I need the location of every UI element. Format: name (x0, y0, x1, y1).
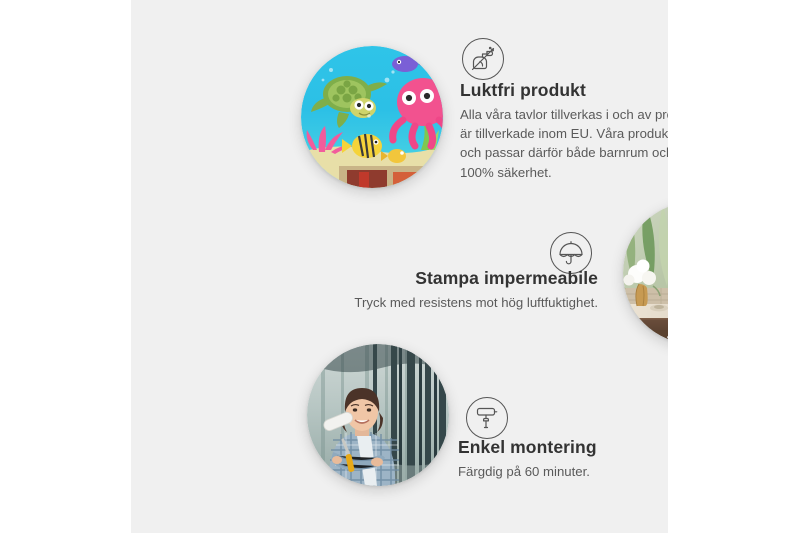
feature-text-water-resistant: Stampa impermeabile Tryck med resistens … (345, 268, 598, 312)
no-odor-spray-icon (462, 38, 504, 80)
feature-title: Stampa impermeabile (345, 268, 598, 288)
feature-text-odor-free: Luktfri produkt Alla våra tavlor tillver… (460, 80, 668, 182)
feature-description: Tryck med resistens mot hög luftfuktighe… (345, 293, 598, 312)
feature-title: Enkel montering (458, 437, 668, 457)
feature-title: Luktfri produkt (460, 80, 668, 100)
woman-paint-roller-forest-photo (307, 344, 449, 486)
content-panel: Luktfri produkt Alla våra tavlor tillver… (131, 0, 668, 533)
feature-description: Alla våra tavlor tillverkas i och av pro… (460, 105, 668, 182)
paint-roller-icon (466, 397, 508, 439)
feature-description: Färgdig på 60 minuter. (458, 462, 668, 481)
underwater-cartoon-photo (301, 46, 443, 188)
feature-text-easy-mounting: Enkel montering Färgdig på 60 minuter. (458, 437, 668, 481)
product-feature-page: Luktfri produkt Alla våra tavlor tillver… (0, 0, 800, 533)
bathroom-tropical-wallpaper-photo (623, 202, 668, 344)
